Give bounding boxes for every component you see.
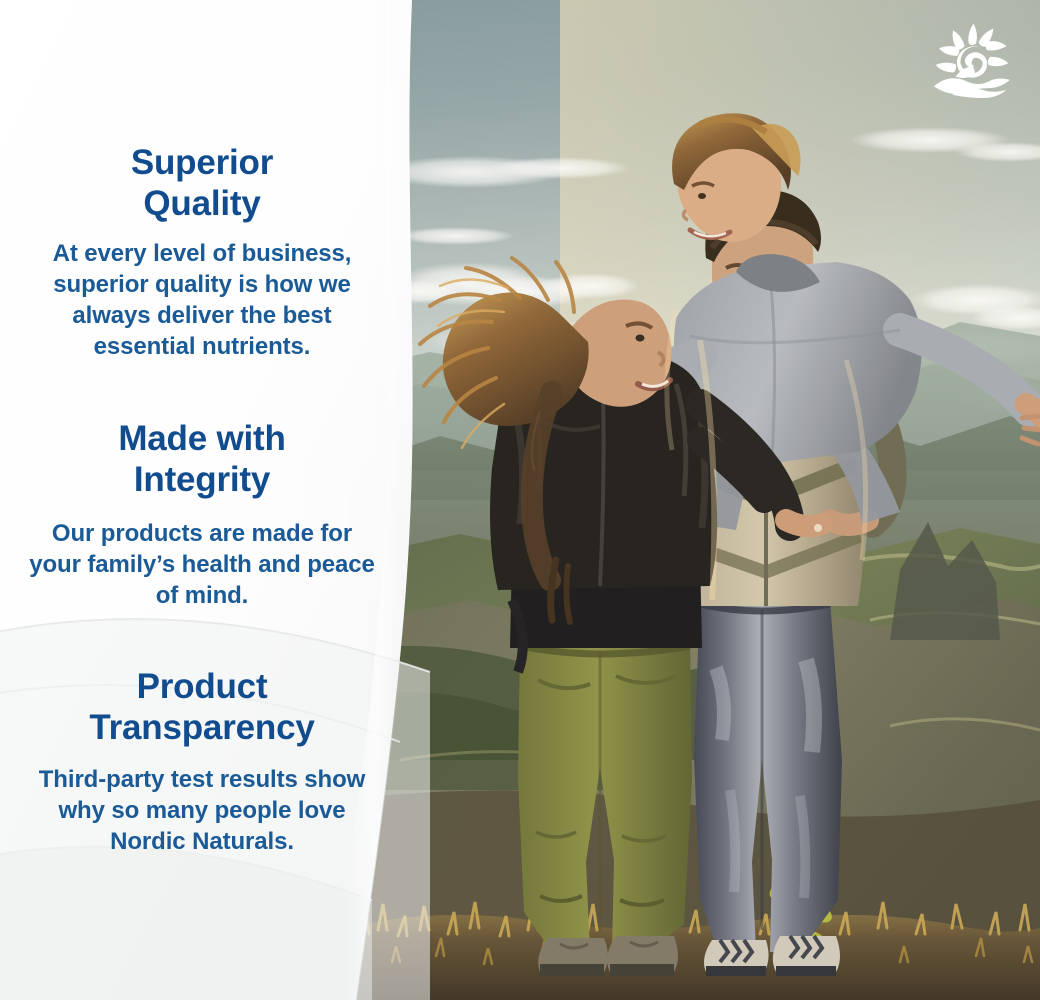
values-text-column: Superior Quality At every level of busin… xyxy=(0,0,404,1000)
value-title: Superior Quality xyxy=(26,143,378,225)
value-body: Third-party test results show why so man… xyxy=(26,764,378,858)
sun-wave-logo-icon xyxy=(930,22,1014,98)
value-block-made-with-integrity: Made with Integrity Our products are mad… xyxy=(26,419,378,611)
value-title-line-2: Transparency xyxy=(26,708,378,749)
promo-banner: Superior Quality At every level of busin… xyxy=(0,0,1040,1000)
value-body: Our products are made for your family’s … xyxy=(26,518,378,612)
value-title: Made with Integrity xyxy=(26,419,378,501)
value-title-line-2: Quality xyxy=(26,184,378,225)
value-title-line-1: Made with xyxy=(26,419,378,460)
value-body: At every level of business, superior qua… xyxy=(26,238,378,363)
value-title: Product Transparency xyxy=(26,667,378,749)
value-title-line-1: Product xyxy=(26,667,378,708)
value-title-line-1: Superior xyxy=(26,143,378,184)
value-block-product-transparency: Product Transparency Third-party test re… xyxy=(26,667,378,857)
value-block-superior-quality: Superior Quality At every level of busin… xyxy=(26,143,378,363)
value-title-line-2: Integrity xyxy=(26,460,378,501)
